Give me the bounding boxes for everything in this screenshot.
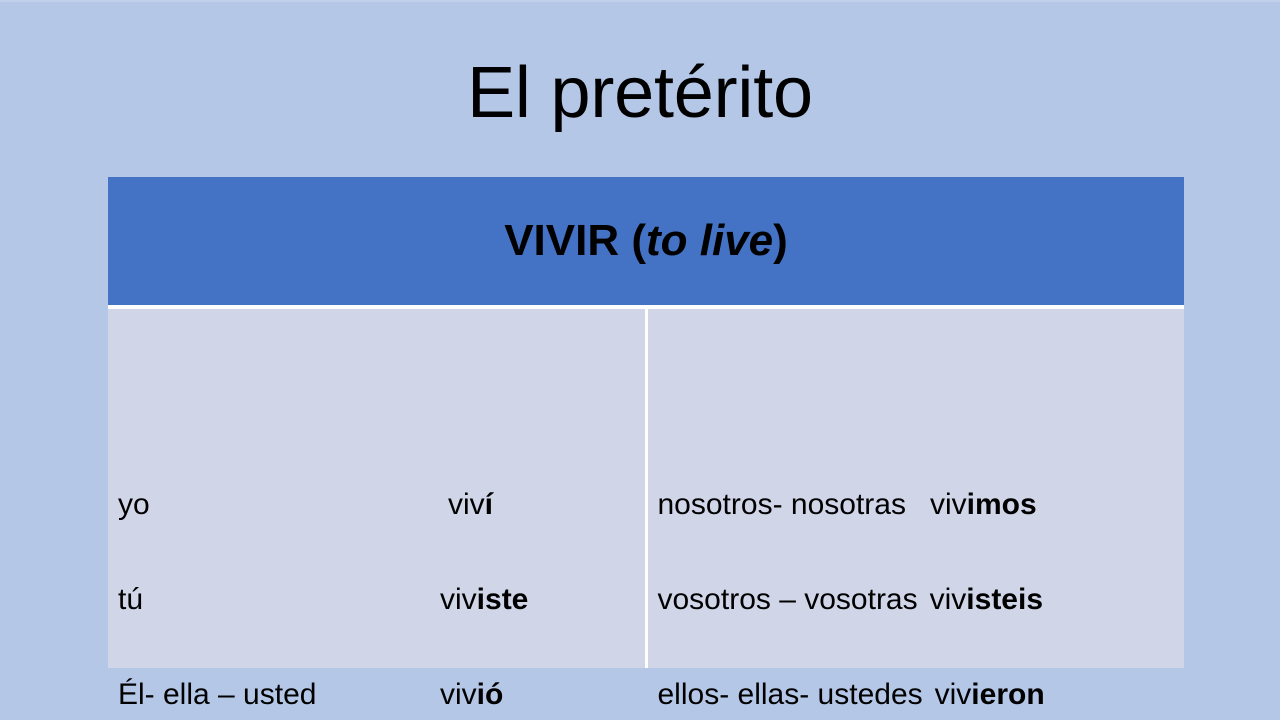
pronoun-el-ella-usted: Él- ella – usted [118, 678, 440, 712]
singular-conjugation-list: yo viví tú viviste Él- ella – usted vivi… [108, 309, 645, 668]
pronoun-ellos-ellas-ustedes: ellos- ellas- ustedes [658, 678, 923, 712]
conjugation-row-vosotros: vosotros – vosotras vivisteis [648, 580, 1185, 620]
conjugation-row-ellos: ellos- ellas- ustedes vivieron [648, 675, 1185, 715]
conjugation-row-nosotros: nosotros- nosotras vivimos [648, 485, 1185, 525]
verb-stem: viv [930, 583, 967, 616]
table-header-verb: VIVIR (to live) [108, 177, 1184, 307]
verb-stem: viv [440, 583, 477, 616]
table-body-row: yo viví tú viviste Él- ella – usted vivi… [108, 307, 1184, 668]
verb-ending: isteis [966, 583, 1043, 616]
table-header-row: VIVIR (to live) [108, 177, 1184, 307]
pronoun-tu: tú [118, 583, 440, 617]
singular-column-cell: yo viví tú viviste Él- ella – usted vivi… [108, 307, 646, 668]
conjugation-row-yo: yo viví [108, 485, 645, 525]
verb-ending: ieron [971, 678, 1044, 711]
verb-form-el-ella-usted: vivió [440, 678, 503, 712]
verb-form-nosotros: vivimos [930, 488, 1037, 522]
slide-top-edge [0, 0, 1280, 2]
conjugation-row-tu: tú viviste [108, 580, 645, 620]
verb-form-yo: viví [448, 488, 493, 522]
plural-column-cell: nosotros- nosotras vivimos vosotros – vo… [646, 307, 1184, 668]
pronoun-vosotros: vosotros – vosotras [658, 583, 918, 617]
verb-stem: viv [440, 678, 477, 711]
verb-ending: imos [967, 488, 1037, 521]
verb-form-tu: viviste [440, 583, 528, 617]
verb-form-vosotros: vivisteis [930, 583, 1043, 617]
header-verb-close-paren: ) [773, 216, 788, 265]
verb-stem: viv [448, 488, 485, 521]
plural-conjugation-list: nosotros- nosotras vivimos vosotros – vo… [648, 309, 1185, 668]
header-translation-text: to live [646, 216, 773, 265]
slide-canvas: El pretérito VIVIR (to live) yo viví tú [0, 0, 1280, 720]
verb-stem: viv [930, 488, 967, 521]
conjugation-table: VIVIR (to live) yo viví tú viviste [108, 177, 1184, 668]
verb-ending: í [485, 488, 493, 521]
verb-ending: ió [477, 678, 504, 711]
pronoun-nosotros: nosotros- nosotras [658, 488, 906, 522]
header-verb-text: VIVIR ( [504, 216, 646, 265]
pronoun-yo: yo [118, 488, 448, 522]
page-title: El pretérito [0, 48, 1280, 138]
verb-ending: iste [477, 583, 529, 616]
conjugation-row-el-ella-usted: Él- ella – usted vivió [108, 675, 645, 715]
verb-form-ellos: vivieron [935, 678, 1045, 712]
verb-stem: viv [935, 678, 972, 711]
